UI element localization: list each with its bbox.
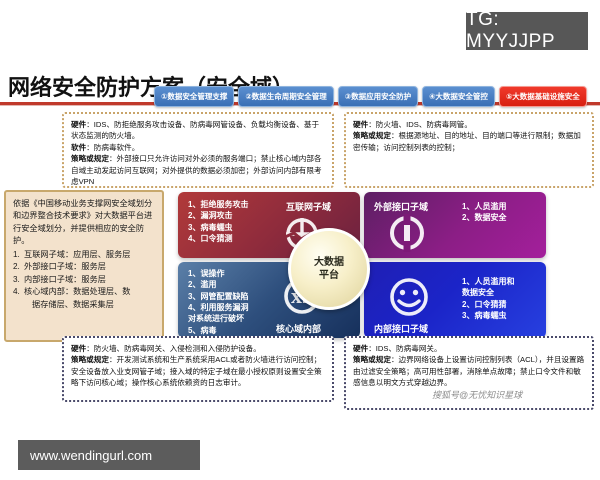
zone-internal-interface-subdomain: 内部接口子域 1、人员滥用和 数据安全 2、口令猜猜 3、病毒蠕虫: [364, 262, 546, 338]
zone-external-interface-subdomain: 外部接口子域 1、人员滥用 2、数据安全: [364, 192, 546, 258]
note-bottom-right-policy: 策略或规定：边界网络设备上设置访问控制列表（ACL），并且设置路由过滤安全策略；…: [353, 354, 585, 388]
tab-bigdata-security-control[interactable]: ④大数据安全管控: [422, 86, 495, 107]
list-item: 数据安全: [462, 287, 514, 298]
note-bottom-left-hardware: 硬件：防火墙、防病毒网关、入侵检测和入侵防护设备。: [71, 343, 325, 354]
zone-core-internal-label: 核心域内部: [276, 322, 321, 335]
list-item: 5、病毒: [188, 325, 248, 336]
zone-internal-interface-subdomain-threats: 1、人员滥用和 数据安全 2、口令猜猜 3、病毒蠕虫: [462, 276, 514, 321]
left-panel-list: 1.互联网子域：应用层、服务层 2.外部接口子域：服务层 3.内部接口子域：服务…: [13, 249, 155, 311]
center-line-2: 平台: [319, 269, 339, 282]
left-panel-lead: 依据《中国移动业务支撑网安全域划分和边界整合技术要求》对大数据平台进行安全域划分…: [13, 198, 155, 248]
tab-bigdata-infrastructure-security[interactable]: ⑤大数据基础设施安全: [499, 86, 587, 107]
zone-internet-subdomain-threats: 1、拒绝服务攻击 2、漏洞攻击 3、病毒蠕虫 4、口令猜测: [188, 199, 248, 244]
zone-external-interface-subdomain-threats: 1、人员滥用 2、数据安全: [462, 201, 506, 224]
tab-data-application-security-protection[interactable]: ③数据应用安全防护: [338, 86, 418, 107]
list-item: 2、滥用: [188, 279, 248, 290]
watermark: 搜狐号@无忧知识星球: [432, 388, 522, 401]
list-item: 1.互联网子域：应用层、服务层: [13, 249, 155, 261]
list-item: 1、拒绝服务攻击: [188, 199, 248, 210]
list-item: 2、漏洞攻击: [188, 210, 248, 221]
note-top-left-software: 软件：防病毒软件。: [71, 142, 325, 153]
security-zone-description-panel: 依据《中国移动业务支撑网安全域划分和边界整合技术要求》对大数据平台进行安全域划分…: [4, 190, 164, 342]
note-top-left-policy: 策略或规定：外部接口只允许访问对外必须的服务端口；禁止核心域内部各自域主动发起访…: [71, 153, 325, 187]
zone-internal-interface-subdomain-label: 内部接口子域: [374, 322, 428, 335]
split-ring-icon: [386, 212, 428, 254]
note-bottom-left-policy: 策略或规定：开发测试系统和生产系统采用ACL或者防火墙进行访问控制；安全设备放入…: [71, 354, 325, 388]
list-item: 4、利用服务漏洞: [188, 302, 248, 313]
zone-core-internal-threats: 1、误操作 2、滥用 3、网管配置缺陷 4、利用服务漏洞 对系统进行破坏 5、病…: [188, 268, 248, 336]
list-item: 1、误操作: [188, 268, 248, 279]
list-item: 3、病毒蠕虫: [188, 222, 248, 233]
list-item: 1、人员滥用: [462, 201, 506, 212]
list-item: 3.内部接口子域：服务层: [13, 274, 155, 286]
list-item: 1、人员滥用和: [462, 276, 514, 287]
note-top-right-hardware: 硬件：防火墙、IDS、防病毒网管。: [353, 119, 585, 130]
tab-data-security-management-support[interactable]: ①数据安全管理支撑: [154, 86, 234, 107]
list-item: 对系统进行破坏: [188, 313, 248, 324]
footer-url: www.wendingurl.com: [18, 440, 200, 470]
note-top-left-hardware: 硬件：IDS、防拒绝服务攻击设备、防病毒网管设备、负载均衡设备、基于状态监测的防…: [71, 119, 325, 142]
note-bottom-right-hardware: 硬件：IDS、防病毒网关。: [353, 343, 585, 354]
list-item: 4、口令猜测: [188, 233, 248, 244]
note-top-right-policy: 策略或规定：根据源地址、目的地址、目的端口等进行限制；数据加密传输；访问控制列表…: [353, 130, 585, 153]
list-item: 2.外部接口子域：服务层: [13, 261, 155, 273]
section-tabs: ①数据安全管理支撑 ②数据生命周期安全管理 ③数据应用安全防护 ④大数据安全管控…: [154, 86, 587, 107]
list-item: 4.核心域内部：数据处理层、数据存储层、数据采集层: [13, 286, 155, 311]
list-item: 3、病毒蠕虫: [462, 310, 514, 321]
center-line-1: 大数据: [314, 256, 344, 269]
note-bottom-left: 硬件：防火墙、防病毒网关、入侵检测和入侵防护设备。 策略或规定：开发测试系统和生…: [62, 336, 334, 402]
list-item: 3、网管配置缺陷: [188, 291, 248, 302]
note-top-right: 硬件：防火墙、IDS、防病毒网管。 策略或规定：根据源地址、目的地址、目的端口等…: [344, 112, 594, 188]
zone-internet-subdomain-label: 互联网子域: [286, 200, 331, 213]
tab-data-lifecycle-security-management[interactable]: ②数据生命周期安全管理: [238, 86, 333, 107]
list-item: 2、口令猜猜: [462, 299, 514, 310]
list-item: 2、数据安全: [462, 212, 506, 223]
slide-canvas: TG: MYYJJPP 网络安全防护方案（安全域） ①数据安全管理支撑 ②数据生…: [0, 0, 600, 480]
tg-badge: TG: MYYJJPP: [466, 12, 588, 50]
note-top-left: 硬件：IDS、防拒绝服务攻击设备、防病毒网管设备、负载均衡设备、基于状态监测的防…: [62, 112, 334, 188]
smiley-face-icon: [386, 274, 432, 320]
bigdata-platform-center: 大数据 平台: [288, 228, 370, 310]
